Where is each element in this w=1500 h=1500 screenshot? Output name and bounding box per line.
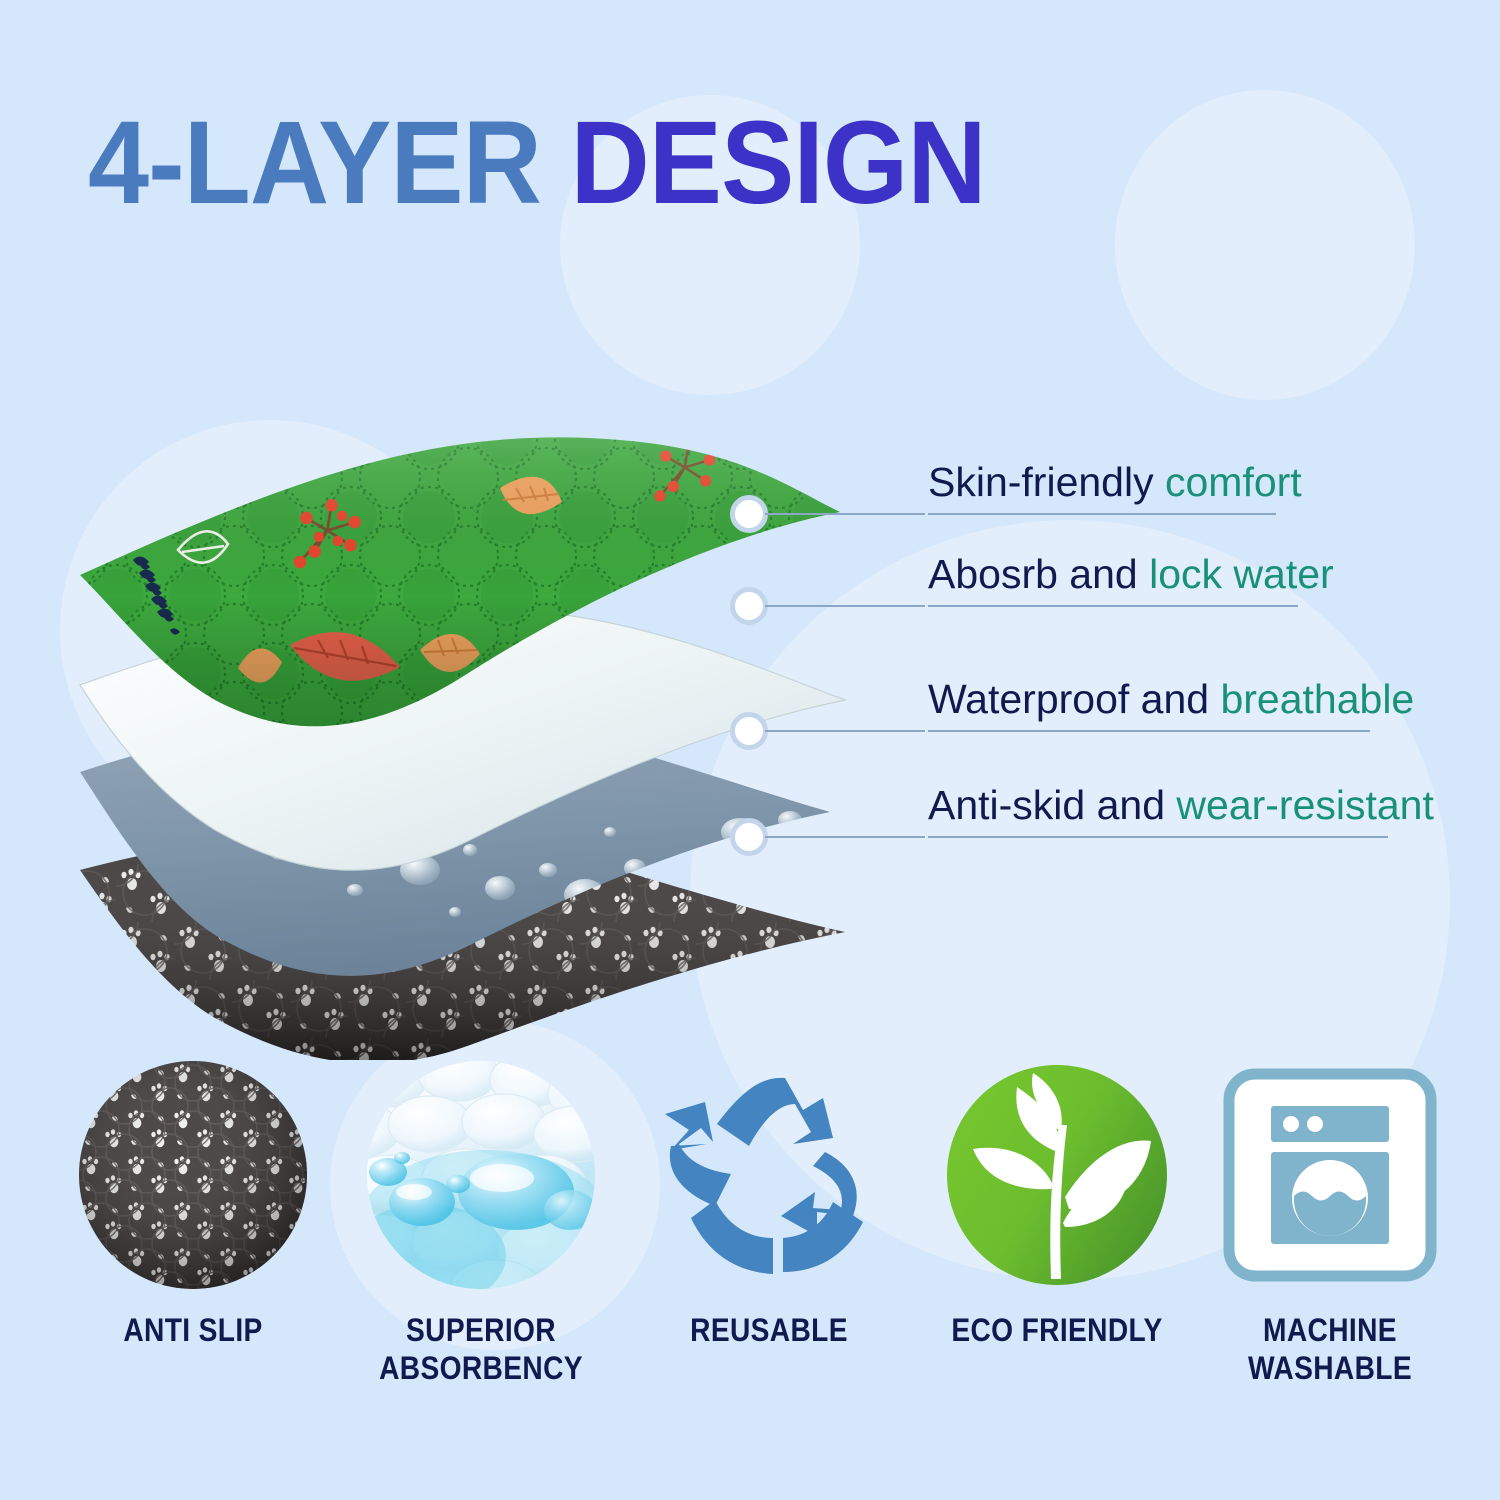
- callout-underline-4: [928, 836, 1388, 838]
- leaf-sprout-icon: [922, 1060, 1192, 1290]
- callout-underline-2: [928, 605, 1298, 607]
- feature-label-reusable: REUSABLE: [650, 1312, 888, 1350]
- infographic-canvas: 4-LAYER DESIGN: [0, 0, 1500, 1500]
- callout-text-1: Skin-friendly comfort: [928, 459, 1302, 506]
- feature-label-anti-slip: ANTI SLIP: [74, 1312, 312, 1350]
- callout-dot-1[interactable]: [730, 495, 768, 533]
- callout-text-4: Anti-skid and wear-resistant: [928, 782, 1434, 829]
- washing-machine-icon: [1195, 1060, 1465, 1290]
- recycle-icon: [634, 1060, 904, 1290]
- feature-superior-absorbency: SUPERIORABSORBENCY: [346, 1060, 616, 1388]
- callout-underline-1: [928, 513, 1276, 515]
- callout-text-3: Waterproof and breathable: [928, 676, 1414, 723]
- feature-reusable: REUSABLE: [634, 1060, 904, 1350]
- callout-text-2: Abosrb and lock water: [928, 551, 1334, 598]
- feature-machine-washable: MACHINEWASHABLE: [1195, 1060, 1465, 1388]
- feature-label-eco-friendly: ECO FRIENDLY: [938, 1312, 1176, 1350]
- feature-anti-slip: ANTI SLIP: [58, 1060, 328, 1350]
- background-blob: [1115, 90, 1415, 400]
- feature-eco-friendly: ECO FRIENDLY: [922, 1060, 1192, 1350]
- callout-dot-3[interactable]: [730, 712, 768, 750]
- callout-leader-3: [765, 730, 925, 732]
- callout-dot-2[interactable]: [730, 587, 768, 625]
- page-title-part-1: 4-LAYER: [88, 97, 541, 229]
- feature-label-machine-washable: MACHINEWASHABLE: [1211, 1312, 1449, 1388]
- feature-label-superior-absorbency: SUPERIORABSORBENCY: [362, 1312, 600, 1388]
- page-title-part-2: DESIGN: [541, 97, 986, 229]
- page-title: 4-LAYER DESIGN: [88, 104, 986, 222]
- callout-underline-3: [928, 730, 1370, 732]
- paw-print-fabric-icon: [58, 1060, 328, 1290]
- callout-leader-1: [765, 513, 925, 515]
- callout-dot-4[interactable]: [730, 818, 768, 856]
- callout-leader-4: [765, 836, 925, 838]
- callout-leader-2: [765, 605, 925, 607]
- water-droplet-quilt-icon: [346, 1060, 616, 1290]
- feature-row: ANTI SLIP: [0, 1060, 1500, 1460]
